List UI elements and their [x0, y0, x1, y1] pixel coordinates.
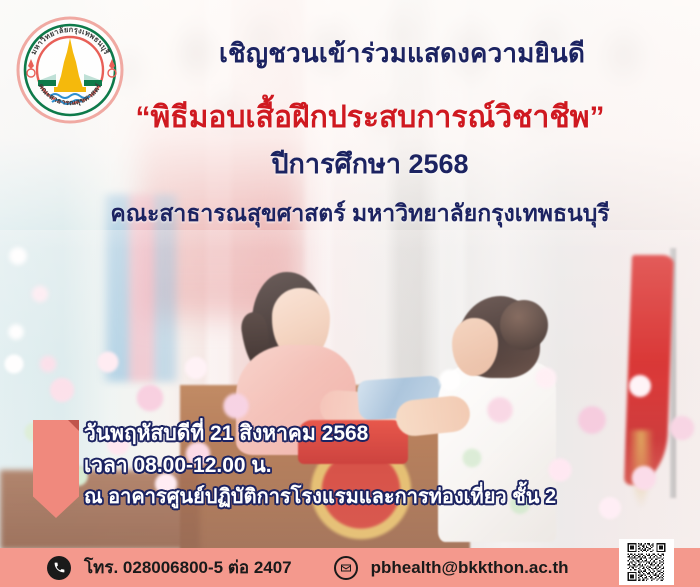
contact-footer: โทร. 028006800-5 ต่อ 2407 pbhealth@bkkth… — [0, 548, 700, 587]
event-venue: ณ อาคารศูนย์ปฏิบัติการโรงแรมและการท่องเท… — [84, 482, 684, 512]
phone-number: โทร. 028006800-5 ต่อ 2407 — [84, 554, 292, 581]
headline-invitation: เชิญชวนเข้าร่วมแสดงความยินดี — [124, 38, 680, 69]
event-title: “พิธีมอบเสื้อฝึกประสบการณ์วิชาชีพ” — [60, 100, 680, 136]
qr-code-icon[interactable] — [619, 539, 674, 585]
academic-year: ปีการศึกษา 2568 — [60, 148, 680, 180]
pennant-ribbon — [33, 420, 79, 518]
email-contact[interactable]: pbhealth@bkkthon.ac.th — [334, 556, 569, 580]
event-date: วันพฤหัสบดีที่ 21 สิงหาคม 2568 — [84, 418, 684, 450]
pennant-body — [33, 420, 79, 518]
phone-icon — [47, 556, 71, 580]
event-details-block: วันพฤหัสบดีที่ 21 สิงหาคม 2568 เวลา 08.0… — [84, 418, 684, 512]
envelope-icon — [334, 556, 358, 580]
event-time: เวลา 08.00-12.00 น. — [84, 450, 684, 482]
faculty-name: คณะสาธารณสุขศาสตร์ มหาวิทยาลัยกรุงเทพธนบ… — [40, 200, 680, 228]
phone-contact[interactable]: โทร. 028006800-5 ต่อ 2407 — [47, 554, 292, 581]
poster-canvas: มหาวิทยาลัยกรุงเทพธนบุรี คณะสาธารณสุขศาส… — [0, 0, 700, 587]
email-address: pbhealth@bkkthon.ac.th — [371, 558, 569, 578]
